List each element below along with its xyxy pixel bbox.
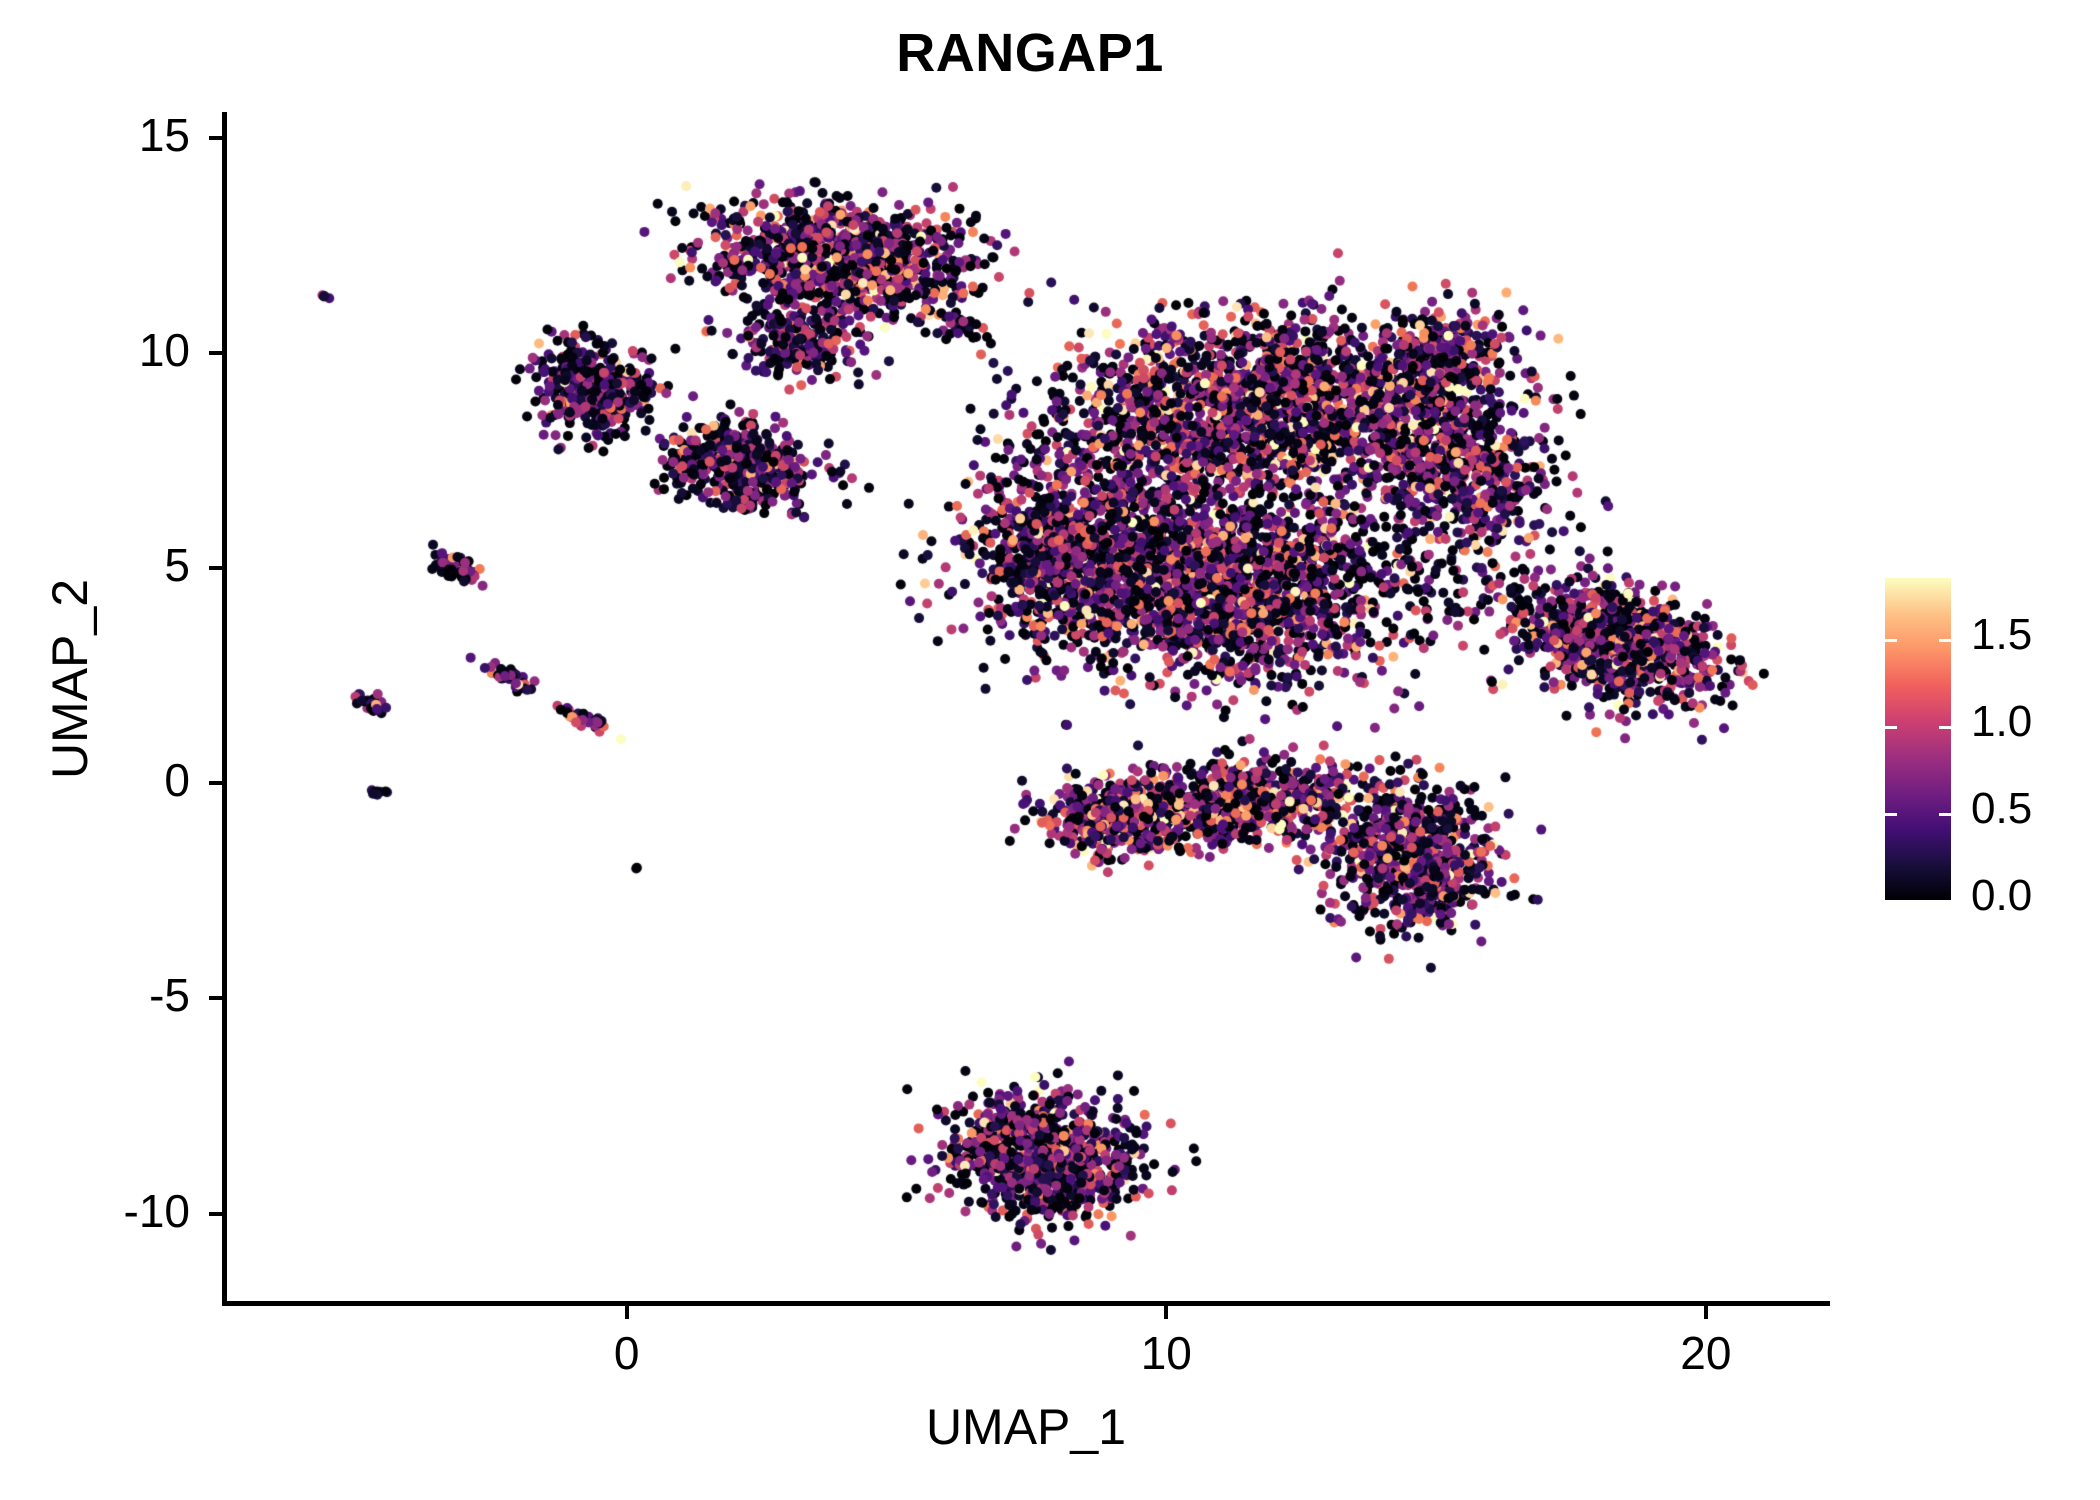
- colorbar-tick-mark: [1939, 639, 1951, 642]
- y-tick-mark: [209, 996, 222, 1000]
- umap-feature-plot: RANGAP1 151050-5-10 01020 UMAP_1 UMAP_2 …: [0, 0, 2100, 1500]
- y-tick-mark: [209, 351, 222, 355]
- x-axis-title: UMAP_1: [222, 1398, 1830, 1456]
- x-tick-mark: [625, 1306, 629, 1319]
- colorbar-tick-mark: [1939, 813, 1951, 816]
- y-tick-label: -10: [0, 1184, 190, 1238]
- y-tick-label: 15: [0, 108, 190, 162]
- y-tick-mark: [209, 136, 222, 140]
- x-tick-mark: [1704, 1306, 1708, 1319]
- colorbar-tick-label: 1.5: [1971, 610, 2032, 660]
- colorbar-tick-label: 1.0: [1971, 697, 2032, 747]
- x-axis-line: [222, 1301, 1830, 1306]
- page-title: RANGAP1: [0, 22, 2060, 84]
- colorbar-tick-mark: [1885, 813, 1897, 816]
- y-tick-label: 10: [0, 323, 190, 377]
- colorbar-tick-mark: [1939, 900, 1951, 903]
- colorbar-tick-label: 0.0: [1971, 871, 2032, 921]
- colorbar-tick-mark: [1885, 900, 1897, 903]
- y-tick-mark: [209, 566, 222, 570]
- colorbar-gradient: [1885, 578, 1951, 900]
- x-tick-label: 10: [1086, 1326, 1246, 1380]
- y-tick-mark: [209, 1212, 222, 1216]
- y-axis-title: UMAP_2: [41, 419, 99, 939]
- y-tick-label: -5: [0, 968, 190, 1022]
- scatter-plot-canvas: [222, 112, 1830, 1304]
- y-axis-line: [222, 112, 227, 1306]
- colorbar-tick-mark: [1885, 639, 1897, 642]
- colorbar-tick-mark: [1939, 726, 1951, 729]
- x-tick-label: 0: [547, 1326, 707, 1380]
- y-tick-mark: [209, 781, 222, 785]
- colorbar-tick-label: 0.5: [1971, 784, 2032, 834]
- x-tick-label: 20: [1626, 1326, 1786, 1380]
- x-tick-mark: [1164, 1306, 1168, 1319]
- colorbar-tick-mark: [1885, 726, 1897, 729]
